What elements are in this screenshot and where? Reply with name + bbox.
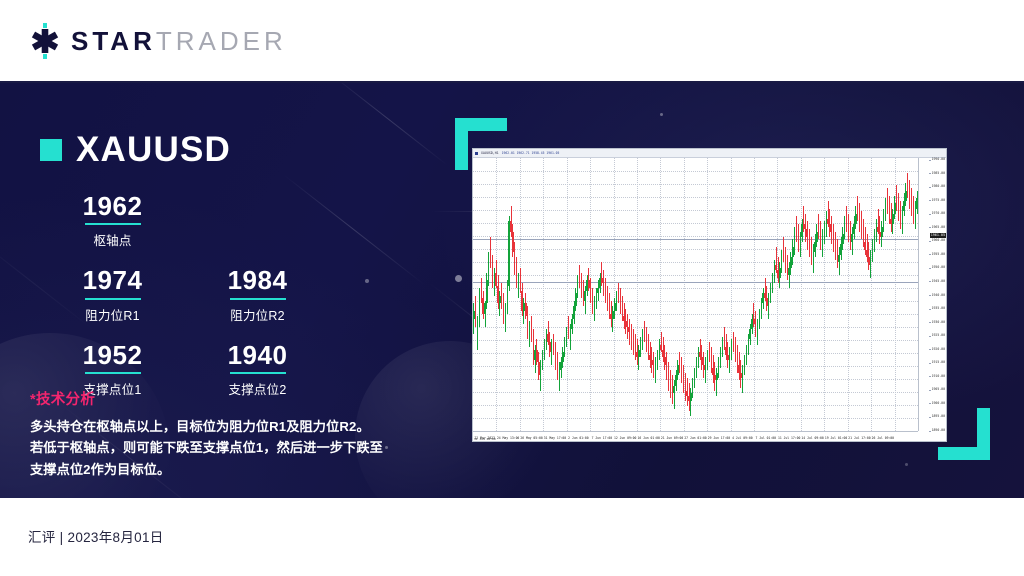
chart-price-tick: 1960.00	[932, 239, 945, 242]
chart-price-tick: 1920.00	[932, 348, 945, 351]
chart-symbol-marker-icon	[475, 152, 478, 155]
chart-time-tick: 16 Jun 01:00	[637, 436, 659, 440]
chart-price-axis[interactable]: 1990.001985.001980.001975.001970.001965.…	[918, 158, 946, 431]
level-value: 1940	[185, 342, 330, 369]
chart-time-tick: 14 Jul 09:00	[801, 436, 823, 440]
chart-gridline-horizontal	[473, 288, 918, 289]
chart-gridline-vertical	[871, 158, 872, 431]
chart-plot-area[interactable]	[473, 158, 918, 431]
chart-level-line	[473, 282, 918, 283]
chart-gridline-vertical	[848, 158, 849, 431]
candlestick-wick	[811, 237, 812, 265]
symbol-title-row: XAUUSD	[40, 132, 231, 167]
chart-price-tick: 1970.00	[932, 212, 945, 215]
pivot-row-main: 1962 枢轴点	[40, 193, 330, 267]
chart-gridline-vertical	[731, 158, 732, 431]
chart-gridline-vertical	[567, 158, 568, 431]
chart-time-tick: 7 Jun 17:00	[592, 436, 613, 440]
chart-gridline-vertical	[754, 158, 755, 431]
chart-price-tick: 1990.00	[932, 158, 945, 161]
hero-panel: XAUUSD 1962 枢轴点 1974 阻力位R1 1984	[0, 83, 1024, 498]
chart-time-tick: 26 May 05:00	[520, 436, 542, 440]
candlestick-wick	[868, 242, 869, 270]
chart-gridline-vertical	[543, 158, 544, 431]
chart-gridline-horizontal	[473, 405, 918, 406]
level-label: 阻力位R1	[40, 305, 185, 324]
level-label: 阻力位R2	[185, 305, 330, 324]
candlestick-wick	[551, 339, 552, 365]
chart-gridline-vertical	[707, 158, 708, 431]
page-header: STARTRADER	[0, 0, 1024, 83]
dot-decoration	[455, 275, 462, 282]
chart-gridline-vertical	[660, 158, 661, 431]
page-title: XAUUSD	[76, 132, 231, 167]
logo-square-bottom-icon	[43, 54, 47, 59]
chart-gridline-vertical	[777, 158, 778, 431]
chart-price-tick: 1925.00	[932, 334, 945, 337]
level-label: 枢轴点	[40, 230, 185, 249]
chart-time-tick: 21 Jul 17:00	[848, 436, 870, 440]
chart-time-tick: 24 May 13:00	[497, 436, 519, 440]
technical-analysis-block: *技术分析 多头持仓在枢轴点以上，目标位为阻力位R1及阻力位R2。 若低于枢轴点…	[30, 388, 410, 480]
analysis-line-1: 多头持仓在枢轴点以上，目标位为阻力位R1及阻力位R2。	[30, 416, 410, 437]
chart-header-bar: XAUUSD,H1 1962.01 1962.71 1958.45 1961.0…	[473, 149, 946, 158]
chart-time-tick: 31 May 17:00	[544, 436, 566, 440]
level-rule	[85, 372, 141, 374]
chart-time-tick: 4 Jul 09:00	[732, 436, 753, 440]
footer-caption: 汇评 | 2023年8月01日	[28, 526, 164, 546]
level-resistance-2: 1984 阻力位R2	[185, 267, 330, 323]
chart-gridline-horizontal	[473, 171, 918, 172]
level-rule	[230, 372, 286, 374]
chart-price-tick: 1900.00	[932, 402, 945, 405]
chart-last-price-badge: 1961.05	[930, 233, 946, 238]
dot-decoration	[660, 113, 663, 116]
chart-gridline-horizontal	[473, 418, 918, 419]
asterisk-icon	[28, 27, 62, 55]
chart-gridline-vertical	[824, 158, 825, 431]
chart-time-tick: 12 Jun 09:00	[614, 436, 636, 440]
chart-price-tick: 1940.00	[932, 294, 945, 297]
chart-time-tick: 7 Jul 01:00	[756, 436, 777, 440]
candlestick-wick	[820, 221, 821, 249]
chart-gridline-horizontal	[473, 197, 918, 198]
chart-gridline-horizontal	[473, 210, 918, 211]
dot-decoration	[365, 279, 369, 283]
chart-gridline-horizontal	[473, 353, 918, 354]
chart-price-tick: 1915.00	[932, 361, 945, 364]
chart-gridline-horizontal	[473, 314, 918, 315]
chart-price-tick: 1975.00	[932, 199, 945, 202]
chart-price-tick: 1945.00	[932, 280, 945, 283]
chart-price-tick: 1950.00	[932, 266, 945, 269]
chart-price-tick: 1935.00	[932, 307, 945, 310]
chart-gridline-horizontal	[473, 223, 918, 224]
title-accent-square-icon	[40, 139, 62, 161]
level-resistance-1: 1974 阻力位R1	[40, 267, 185, 323]
chart-time-tick: 19 Jul 01:00	[825, 436, 847, 440]
chart-gridline-horizontal	[473, 340, 918, 341]
pivot-levels: 1962 枢轴点 1974 阻力位R1 1984 阻力位R2	[40, 193, 330, 416]
analysis-line-2: 若低于枢轴点，则可能下跌至支撑点位1，然后进一步下跌至	[30, 437, 410, 458]
chart-gridline-horizontal	[473, 392, 918, 393]
chart-time-axis[interactable]: 31 Jul 00:00 22 May 202324 May 13:0026 M…	[473, 431, 918, 441]
level-rule	[230, 298, 286, 300]
streak-decoration	[330, 83, 449, 166]
chart-price-tick: 1895.00	[932, 415, 945, 418]
chart-gridline-vertical	[637, 158, 638, 431]
poster-root: STARTRADER XAUUSD 1962 枢轴点	[0, 0, 1024, 576]
brand-logo[interactable]: STARTRADER	[28, 23, 287, 59]
chart-price-tick: 1905.00	[932, 388, 945, 391]
level-rule	[85, 298, 141, 300]
analysis-line-3: 支撑点位2作为目标位。	[30, 459, 410, 480]
chart-time-tick: 21 Jun 09:00	[661, 436, 683, 440]
level-value: 1974	[40, 267, 185, 294]
price-chart[interactable]: XAUUSD,H1 1962.01 1962.71 1958.45 1961.0…	[472, 148, 947, 442]
chart-time-tick: 26 Jul 09:00	[872, 436, 894, 440]
chart-price-tick: 1910.00	[932, 375, 945, 378]
level-value: 1984	[185, 267, 330, 294]
chart-time-tick: 22 May 2023	[474, 436, 495, 440]
pivot-row-resistance: 1974 阻力位R1 1984 阻力位R2	[40, 267, 330, 341]
chart-price-tick: 1955.00	[932, 253, 945, 256]
dot-decoration	[905, 463, 908, 466]
analysis-heading: *技术分析	[30, 388, 410, 409]
chart-gridline-vertical	[614, 158, 615, 431]
chart-gridline-horizontal	[473, 184, 918, 185]
chart-price-tick: 1890.00	[932, 429, 945, 432]
brand-wordmark: STARTRADER	[71, 28, 287, 54]
level-rule	[85, 223, 141, 225]
chart-gridline-horizontal	[473, 301, 918, 302]
chart-symbol-label: XAUUSD,H1	[481, 151, 499, 155]
chart-time-tick: 11 Jul 17:00	[778, 436, 800, 440]
asterisk-logo-icon	[28, 23, 62, 59]
level-value: 1952	[40, 342, 185, 369]
brand-name-secondary: TRADER	[156, 26, 287, 56]
brand-name-primary: STAR	[71, 26, 156, 56]
chart-price-tick: 1980.00	[932, 185, 945, 188]
chart-gridline-horizontal	[473, 327, 918, 328]
candlestick-wick	[837, 239, 838, 267]
page-footer: 汇评 | 2023年8月01日	[0, 498, 1024, 576]
level-value: 1962	[40, 193, 185, 220]
level-pivot: 1962 枢轴点	[40, 193, 185, 249]
chart-time-tick: 2 Jun 01:00	[568, 436, 589, 440]
chart-gridline-horizontal	[473, 275, 918, 276]
chart-price-tick: 1965.00	[932, 226, 945, 229]
chart-ohlc-label: 1962.01 1962.71 1958.45 1961.05	[502, 151, 560, 155]
chart-gridline-vertical	[801, 158, 802, 431]
chart-price-tick: 1985.00	[932, 172, 945, 175]
chart-gridline-horizontal	[473, 262, 918, 263]
chart-time-tick: 27 Jun 01:00	[684, 436, 706, 440]
chart-price-tick: 1930.00	[932, 321, 945, 324]
chart-time-tick: 29 Jun 17:00	[708, 436, 730, 440]
